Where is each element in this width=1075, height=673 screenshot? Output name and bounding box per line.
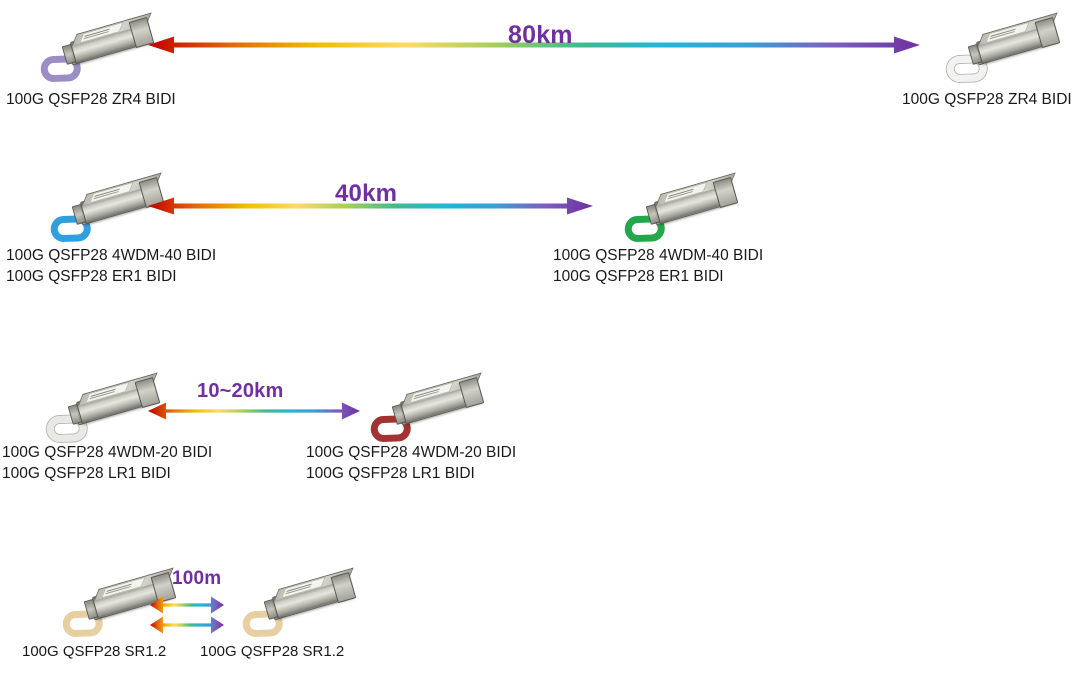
diagram-canvas: 80km100G QSFP28 ZR4 BIDI100G QSFP28 ZR4 … (0, 0, 1075, 673)
distance-label-row-10-20km: 10~20km (197, 380, 283, 403)
distance-label-row-100m: 100m (172, 568, 221, 590)
caption-line: 100G QSFP28 ER1 BIDI (553, 267, 763, 288)
caption-line: 100G QSFP28 ER1 BIDI (6, 267, 216, 288)
distance-label-row-80km: 80km (508, 21, 573, 50)
caption-line: 100G QSFP28 LR1 BIDI (2, 464, 212, 485)
caption-line: 100G QSFP28 4WDM-20 BIDI (306, 443, 516, 464)
reach-arrow-row-100m-b (150, 612, 224, 642)
caption-line: 100G QSFP28 4WDM-20 BIDI (2, 443, 212, 464)
transceiver-module-left-0 (36, 8, 166, 98)
module-caption-left-row-40km: 100G QSFP28 4WDM-40 BIDI100G QSFP28 ER1 … (6, 246, 216, 287)
caption-line: 100G QSFP28 LR1 BIDI (306, 464, 516, 485)
caption-line: 100G QSFP28 SR1.2 (22, 642, 166, 663)
distance-label-row-40km: 40km (335, 180, 397, 208)
caption-line: 100G QSFP28 4WDM-40 BIDI (553, 246, 763, 267)
caption-line: 100G QSFP28 4WDM-40 BIDI (6, 246, 216, 267)
caption-line: 100G QSFP28 ZR4 BIDI (6, 90, 176, 111)
transceiver-module-right-3 (238, 563, 368, 653)
module-caption-left-row-10-20km: 100G QSFP28 4WDM-20 BIDI100G QSFP28 LR1 … (2, 443, 212, 484)
module-caption-right-row-80km: 100G QSFP28 ZR4 BIDI (902, 90, 1072, 111)
module-caption-left-row-100m: 100G QSFP28 SR1.2 (22, 642, 166, 663)
module-caption-right-row-100m: 100G QSFP28 SR1.2 (200, 642, 344, 663)
caption-line: 100G QSFP28 SR1.2 (200, 642, 344, 663)
module-caption-left-row-80km: 100G QSFP28 ZR4 BIDI (6, 90, 176, 111)
transceiver-module-right-1 (620, 168, 750, 258)
caption-line: 100G QSFP28 ZR4 BIDI (902, 90, 1072, 111)
transceiver-module-right-0 (942, 8, 1072, 98)
module-caption-right-row-10-20km: 100G QSFP28 4WDM-20 BIDI100G QSFP28 LR1 … (306, 443, 516, 484)
module-caption-right-row-40km: 100G QSFP28 4WDM-40 BIDI100G QSFP28 ER1 … (553, 246, 763, 287)
